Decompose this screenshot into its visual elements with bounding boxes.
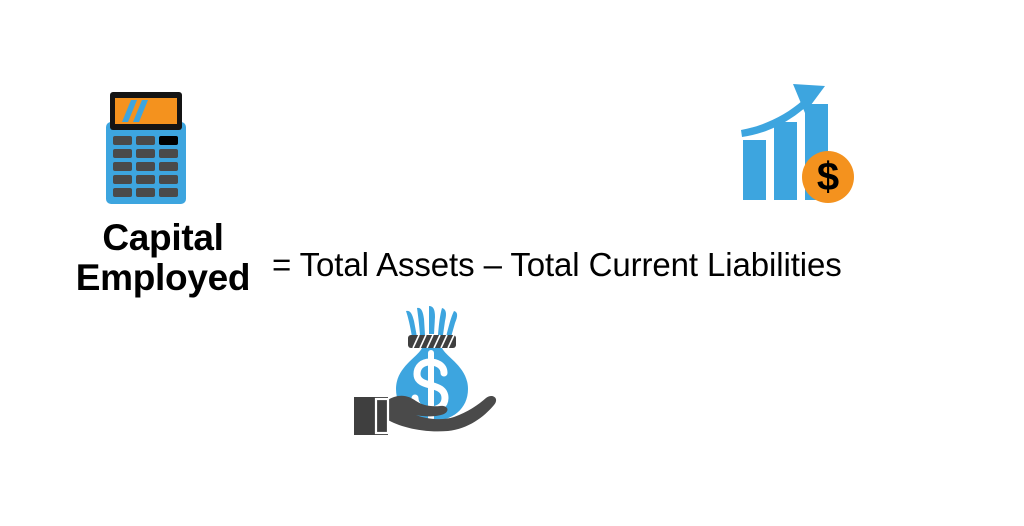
calculator-key <box>136 188 155 197</box>
formula-term-line1: Capital <box>58 218 268 258</box>
calculator-key <box>136 149 155 158</box>
calculator-key <box>136 162 155 171</box>
calculator-key <box>159 188 178 197</box>
calculator-key <box>113 175 132 184</box>
calculator-key <box>159 162 178 171</box>
money-bag-top-flaps <box>406 306 457 337</box>
growth-bar-chart-icon: $ <box>733 82 863 207</box>
sleeve-cuff <box>354 397 388 435</box>
calculator-key-active <box>159 136 178 145</box>
bar-2 <box>774 122 797 200</box>
calculator-key <box>159 175 178 184</box>
page-title: Capital Employed <box>58 218 268 298</box>
calculator-key <box>113 188 132 197</box>
dollar-coin-symbol: $ <box>817 155 839 199</box>
money-bag-tie <box>408 335 456 348</box>
calculator-icon <box>100 92 192 204</box>
formula-term-line2: Employed <box>58 258 268 298</box>
calculator-key <box>113 136 132 145</box>
calculator-key <box>136 136 155 145</box>
formula-expression: = Total Assets – Total Current Liabiliti… <box>272 246 842 284</box>
bar-1 <box>743 140 766 200</box>
hand-holding-money-bag-icon <box>350 305 510 435</box>
calculator-key <box>113 162 132 171</box>
calculator-key <box>159 149 178 158</box>
calculator-key <box>113 149 132 158</box>
infographic-canvas: $ <box>0 0 1024 526</box>
calculator-key <box>136 175 155 184</box>
